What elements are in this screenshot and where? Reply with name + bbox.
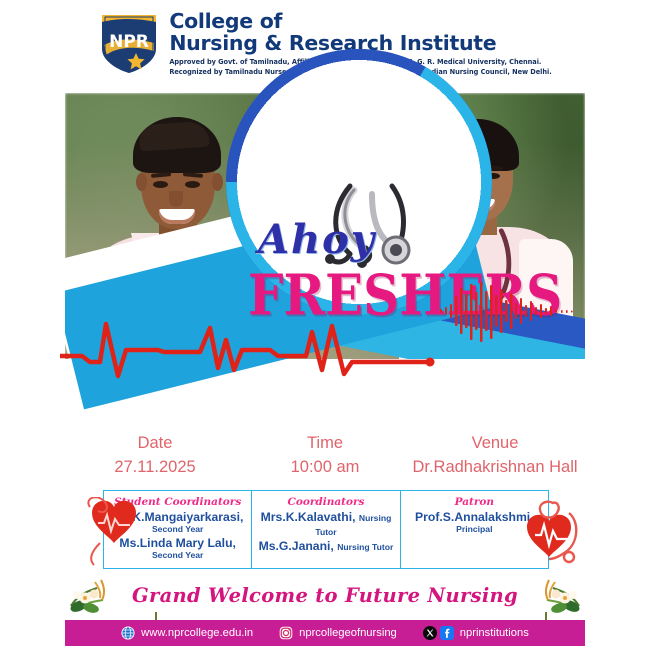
person-role: Nursing Tutor [337, 542, 393, 552]
person-row: Mrs.K.Kalavathi, Nursing Tutor [256, 510, 395, 539]
footer-contact-bar: www.nprcollege.edu.in nprcollegeofnursin… [65, 620, 585, 646]
detail-date: Date 27.11.2025 [70, 432, 240, 488]
detail-date-label: Date [70, 432, 240, 456]
footer-website-text: www.nprcollege.edu.in [141, 627, 253, 639]
globe-icon [121, 626, 135, 640]
person-name: Ms.G.Janani, [259, 539, 334, 553]
person-name: Mrs.K.Kalavathi, [261, 510, 356, 524]
column-heading: Coordinators [256, 496, 395, 508]
table-column-coordinators: Coordinators Mrs.K.Kalavathi, Nursing Tu… [252, 491, 400, 568]
detail-venue-label: Venue [410, 432, 580, 456]
detail-time-value: 10:00 am [240, 456, 410, 480]
instagram-icon [279, 626, 293, 640]
freshers-event-poster: NPR College of Nursing & Research Instit… [0, 0, 650, 650]
detail-date-value: 27.11.2025 [70, 456, 240, 480]
x-twitter-icon [423, 626, 437, 640]
npr-shield-logo-icon: NPR [98, 9, 160, 75]
ahoy-script-title: Ahoy [258, 216, 376, 263]
heart-ecg-decoration-icon [84, 497, 140, 567]
soundwave-icon [440, 282, 590, 342]
logo-text: NPR [109, 32, 149, 52]
person-row: Ms.G.Janani, Nursing Tutor [256, 539, 395, 553]
college-name-line1: College of [169, 11, 551, 32]
footer-instagram-text: nprcollegeofnursing [299, 627, 397, 639]
floral-decoration-right-icon [541, 576, 583, 616]
detail-venue: Venue Dr.Radhakrishnan Hall [410, 432, 580, 488]
detail-time-label: Time [240, 432, 410, 456]
coordinators-table: Student Coordinators Ms.K.Mangaiyarkaras… [103, 490, 549, 569]
detail-venue-value: Dr.Radhakrishnan Hall [410, 456, 580, 480]
event-details-row: Date 27.11.2025 Time 10:00 am Venue Dr.R… [70, 432, 580, 488]
facebook-icon [440, 626, 454, 640]
detail-time: Time 10:00 am [240, 432, 410, 488]
footer-social-text: nprinstitutions [460, 627, 529, 639]
welcome-banner: Grand Welcome to Future Nursing Professi… [65, 578, 585, 614]
footer-instagram[interactable]: nprcollegeofnursing [279, 626, 397, 640]
heart-stethoscope-decoration-icon [523, 497, 585, 571]
footer-social[interactable]: nprinstitutions [423, 626, 529, 640]
footer-website[interactable]: www.nprcollege.edu.in [121, 626, 253, 640]
